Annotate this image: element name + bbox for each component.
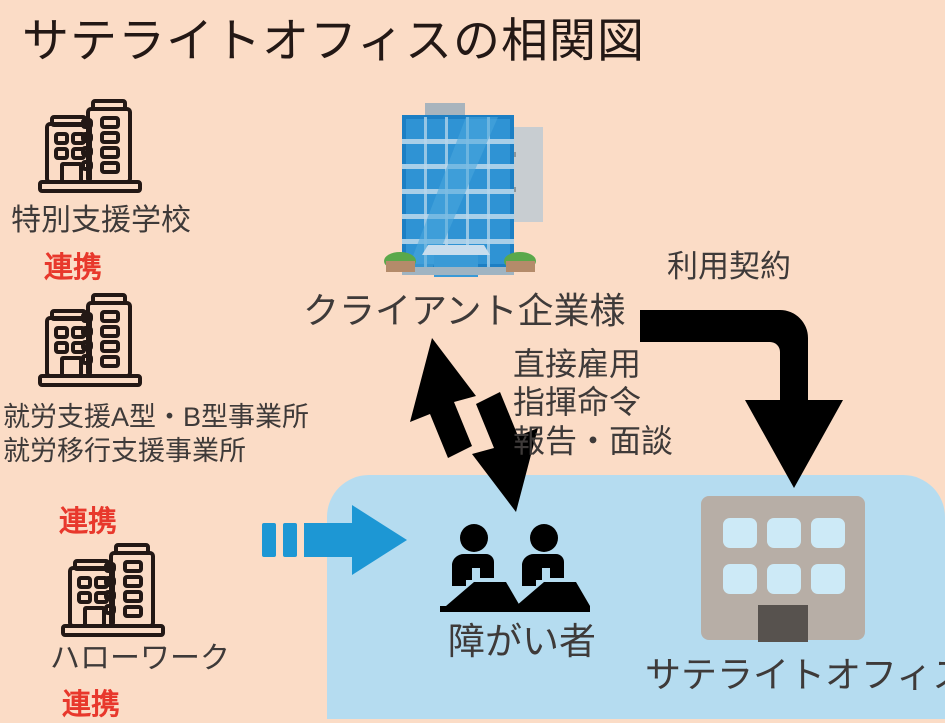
- page-title: サテライトオフィスの相関図: [22, 2, 645, 71]
- group-special-support-school: [0, 96, 240, 201]
- relation-label-school: 連携: [44, 244, 102, 286]
- satellite-office-building-icon: [697, 492, 869, 644]
- office-building-line-icon: [0, 96, 240, 201]
- label-usage-contract: 利用契約: [667, 250, 791, 283]
- relation-label-hello-work: 連携: [62, 681, 120, 723]
- label-employment-support-office-line2: 就労移行支援事業所: [3, 437, 246, 466]
- label-command-instruction: 指揮命令: [513, 383, 673, 421]
- label-employment-support-office-line1: 就労支援A型・B型事業所: [3, 403, 309, 432]
- label-disabled-persons: 障がい者: [448, 622, 596, 662]
- label-hello-work: ハローワーク: [50, 643, 230, 675]
- diagram-canvas: サテライトオフィスの相関図: [0, 0, 945, 719]
- relation-label-support-office: 連携: [59, 498, 117, 540]
- blue-dashed-right-arrow: [262, 505, 407, 575]
- office-building-line-icon: [0, 540, 240, 645]
- label-special-support-school: 特別支援学校: [11, 205, 191, 237]
- label-direct-employment: 直接雇用: [513, 345, 673, 383]
- blue-office-building-icon: [380, 95, 550, 285]
- label-employment-relations: 直接雇用 指揮命令 報告・面談: [513, 345, 673, 460]
- group-hello-work: [0, 540, 240, 645]
- label-satellite-office: サテライトオフィス: [645, 656, 945, 695]
- two-people-at-laptops-icon: [440, 522, 590, 618]
- label-client-company: クライアント企業様: [303, 292, 626, 331]
- label-report-interview: 報告・面談: [513, 422, 673, 460]
